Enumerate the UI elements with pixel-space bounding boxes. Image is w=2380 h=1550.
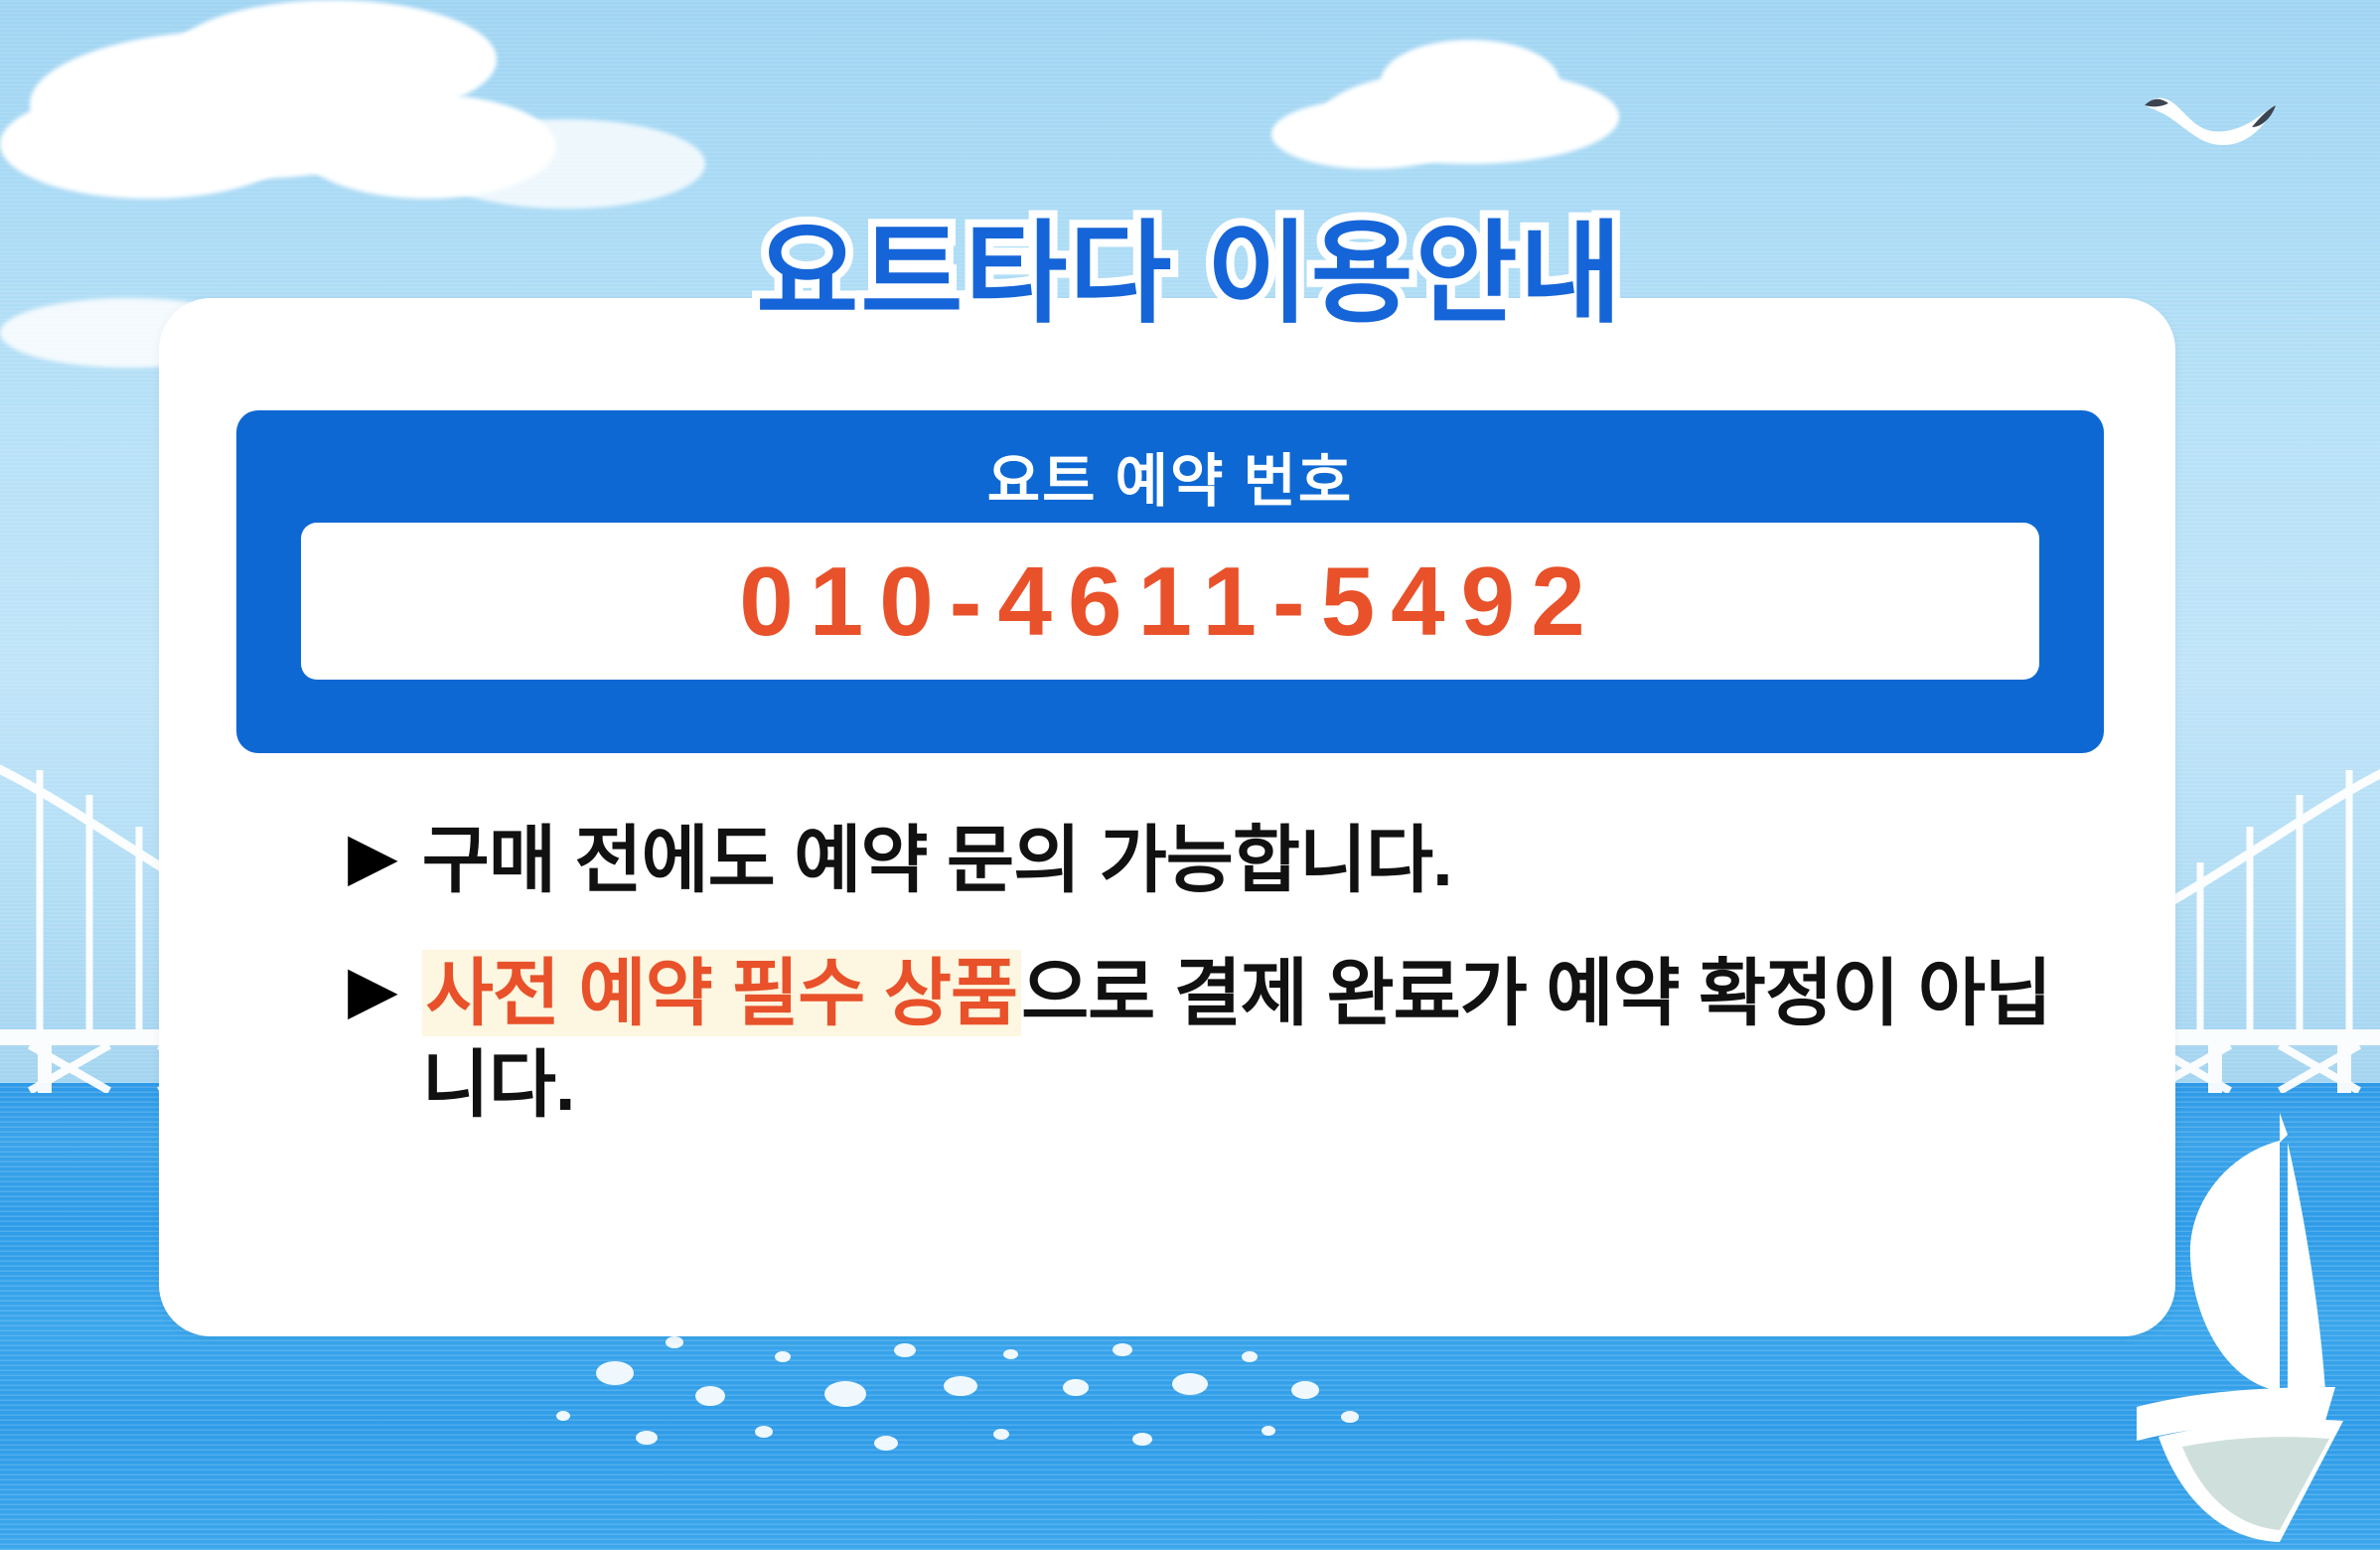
sea-foam	[944, 1376, 977, 1396]
sea-foam	[874, 1436, 898, 1451]
page-title: 요트타다 이용안내	[0, 184, 2380, 345]
triangle-right-icon: ▶	[348, 948, 398, 1031]
sea-foam	[695, 1386, 725, 1406]
sea-foam	[755, 1426, 773, 1438]
sea-foam	[1291, 1381, 1319, 1399]
sea-foam	[1172, 1373, 1208, 1395]
reservation-phone-number[interactable]: 010-4611-5492	[739, 545, 1600, 658]
sea-foam	[993, 1429, 1009, 1440]
promo-poster: 요트타다 이용안내 요트 예약 번호 010-4611-5492 ▶ 구매 전에…	[0, 0, 2380, 1550]
list-item: ▶ 사전 예약 필수 상품으로 결제 완료가 예약 확정이 아닙니다.	[348, 948, 2056, 1131]
sea-foam	[636, 1431, 658, 1445]
list-item: ▶ 구매 전에도 예약 문의 가능합니다.	[348, 815, 2056, 906]
notice-list: ▶ 구매 전에도 예약 문의 가능합니다. ▶ 사전 예약 필수 상품으로 결제…	[348, 815, 2056, 1172]
triangle-right-icon: ▶	[348, 815, 398, 898]
sea-foam	[666, 1336, 683, 1348]
sea-foam	[1262, 1426, 1275, 1436]
reservation-phone-box: 010-4611-5492	[301, 523, 2039, 680]
sea-foam	[596, 1361, 634, 1385]
notice-text-2: 사전 예약 필수 상품으로 결제 완료가 예약 확정이 아닙니다.	[422, 948, 2056, 1131]
notice-highlight: 사전 예약 필수 상품	[422, 950, 1021, 1036]
sea-foam	[894, 1343, 916, 1357]
cloud-icon	[1271, 99, 1470, 169]
sea-foam	[1113, 1343, 1132, 1356]
cloud-icon	[0, 89, 298, 199]
sea-foam	[1341, 1411, 1359, 1423]
sea-foam	[1003, 1349, 1018, 1359]
seagull-icon	[2141, 87, 2280, 157]
sea-foam	[824, 1381, 866, 1407]
sea-foam	[1063, 1379, 1089, 1396]
notice-text-1: 구매 전에도 예약 문의 가능합니다.	[422, 815, 1452, 906]
sea-foam	[556, 1411, 570, 1421]
sea-foam	[775, 1351, 791, 1362]
reservation-phone-panel: 요트 예약 번호 010-4611-5492	[236, 410, 2104, 753]
sea-foam	[1242, 1351, 1258, 1362]
sea-foam	[1132, 1433, 1152, 1446]
reservation-phone-label: 요트 예약 번호	[236, 434, 2104, 518]
